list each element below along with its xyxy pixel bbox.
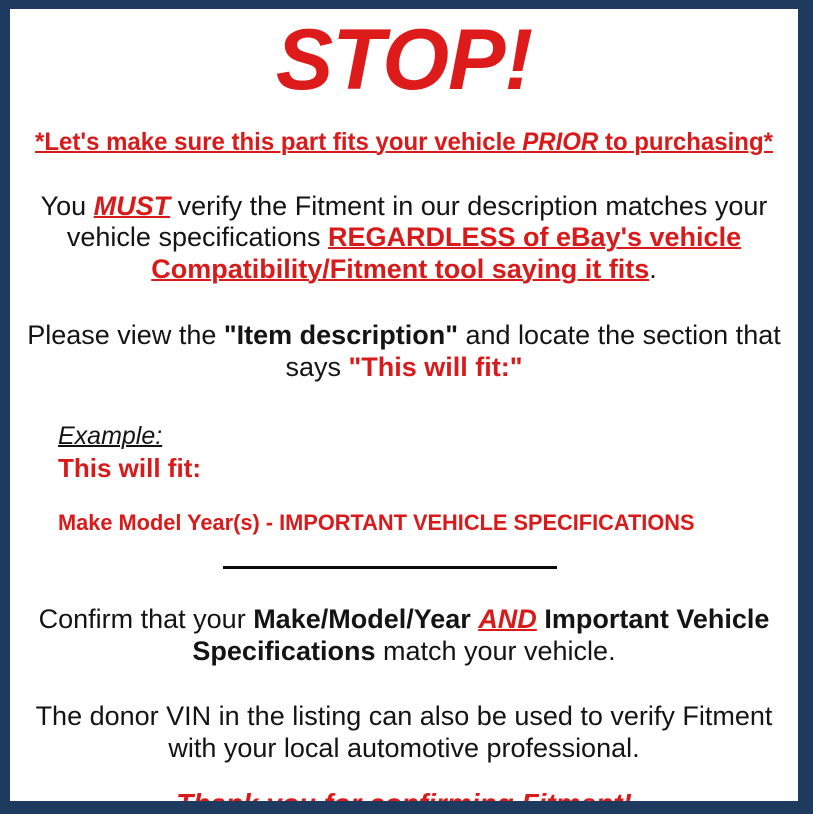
subtitle-emphasis-prior: PRIOR bbox=[522, 128, 598, 156]
subtitle-part-1: *Let's make sure this part fits your veh… bbox=[35, 128, 522, 156]
must-seg-5: . bbox=[649, 254, 657, 284]
paragraph-must: You MUST verify the Fitment in our descr… bbox=[10, 191, 798, 287]
example-spec-line: Make Model Year(s) - IMPORTANT VEHICLE S… bbox=[58, 510, 791, 536]
border-right bbox=[798, 0, 813, 814]
example-label: Example: bbox=[58, 422, 798, 451]
border-top bbox=[0, 0, 813, 9]
notice-content: STOP! *Let's make sure this part fits yo… bbox=[10, 9, 798, 801]
border-bottom bbox=[0, 801, 813, 814]
subtitle-part-2: to purchasing* bbox=[598, 128, 773, 156]
closing-thanks: Thank you for confirming Fitment! bbox=[10, 787, 798, 801]
and-emphasis: AND bbox=[478, 604, 537, 634]
divider-wrapper bbox=[10, 560, 798, 574]
paragraph-confirm: Confirm that your Make/Model/Year AND Im… bbox=[10, 604, 798, 668]
section-divider bbox=[223, 566, 557, 569]
confirm-seg-7: match your vehicle. bbox=[375, 636, 615, 666]
must-emphasis: MUST bbox=[94, 191, 171, 221]
paragraph-description: Please view the "Item description" and l… bbox=[10, 320, 798, 384]
subtitle-line: *Let's make sure this part fits your veh… bbox=[26, 129, 782, 157]
example-block: Example: This will fit: Make Model Year(… bbox=[10, 422, 798, 536]
must-seg-1: You bbox=[41, 191, 94, 221]
this-will-fit-emphasis: "This will fit:" bbox=[348, 352, 522, 382]
paragraph-vin: The donor VIN in the listing can also be… bbox=[10, 701, 798, 765]
make-model-year-emphasis: Make/Model/Year bbox=[253, 604, 471, 634]
item-description-emphasis: "Item description" bbox=[224, 320, 458, 350]
confirm-seg-1: Confirm that your bbox=[39, 604, 254, 634]
stop-headline: STOP! bbox=[10, 17, 798, 103]
border-left bbox=[0, 0, 10, 814]
example-fit-heading: This will fit: bbox=[58, 453, 798, 484]
fitment-notice-poster: STOP! *Let's make sure this part fits yo… bbox=[0, 0, 813, 814]
desc-seg-1: Please view the bbox=[27, 320, 224, 350]
